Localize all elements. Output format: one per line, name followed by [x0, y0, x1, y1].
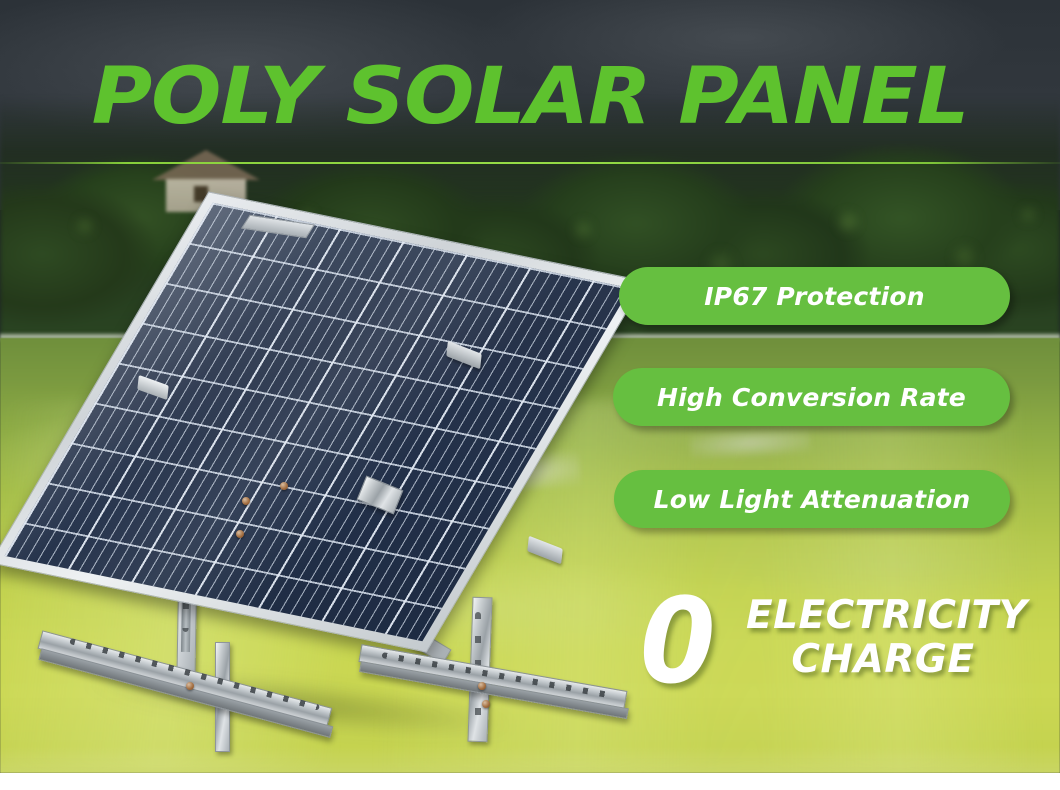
- solar-panel-assembly: [30, 212, 620, 712]
- glass-reflection: [5, 203, 631, 642]
- solar-panel-glass: [5, 203, 631, 642]
- bolt: [280, 482, 288, 490]
- feature-badge-ip67[interactable]: IP67 Protection: [619, 267, 1010, 325]
- promo-banner: POLY SOLAR PANEL IP67 Protection High Co…: [0, 0, 1060, 790]
- electricity-charge-line1: ELECTRICITY: [746, 593, 1027, 638]
- header-divider-line: [0, 162, 1060, 164]
- bolt: [242, 497, 250, 505]
- page-title: POLY SOLAR PANEL: [0, 55, 1060, 139]
- electricity-charge-label: ELECTRICITY CHARGE: [746, 594, 1020, 682]
- bolt: [478, 682, 486, 690]
- bolt: [482, 700, 490, 708]
- house-roof: [152, 150, 260, 180]
- zero-electricity-charge-block: 0 ELECTRICITY CHARGE: [640, 586, 1020, 696]
- bolt: [186, 682, 194, 690]
- zero-value: 0: [640, 582, 716, 700]
- feature-badge-conversion-rate[interactable]: High Conversion Rate: [613, 368, 1010, 426]
- bolt: [236, 530, 244, 538]
- feature-badge-low-light-attenuation[interactable]: Low Light Attenuation: [614, 470, 1010, 528]
- panel-right-clamp-lower: [527, 536, 562, 565]
- electricity-charge-line2: CHARGE: [746, 638, 1020, 682]
- solar-panel-frame: [0, 191, 645, 652]
- bottom-fade: [0, 713, 1060, 773]
